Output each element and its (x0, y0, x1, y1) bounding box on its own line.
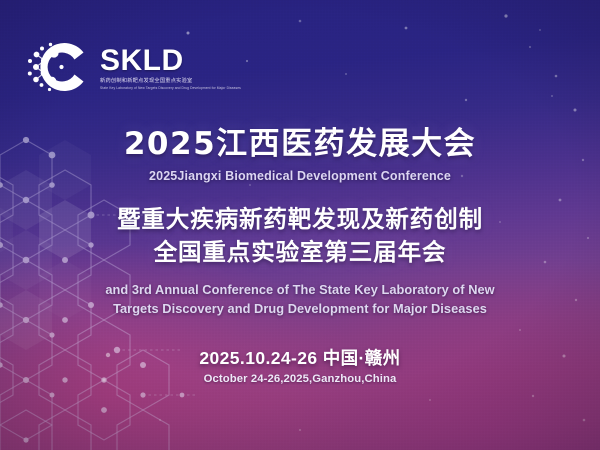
conference-poster: SKLD 新药创制和新靶点发现全国重点实验室 State Key Laborat… (0, 0, 600, 450)
skld-molecular-c-icon (27, 36, 91, 98)
page-title: 2025江西医药发展大会 (124, 126, 476, 163)
date-location-chinese: 2025.10.24-26 中国·赣州 (199, 348, 400, 369)
logo-subtext-chinese: 新药创制和新靶点发现全国重点实验室 (100, 78, 241, 84)
logo-skld-text: SKLD (100, 46, 241, 76)
subtitle-cn-line-2: 全国重点实验室第三届年会 (117, 236, 483, 269)
subtitle-cn-line-1: 暨重大疾病新药靶发现及新药创制 (117, 203, 483, 236)
poster-content: 2025江西医药发展大会 2025Jiangxi Biomedical Deve… (0, 126, 600, 387)
subtitle-en-line-2: Targets Discovery and Drug Development f… (105, 300, 494, 319)
date-location-english: October 24-26,2025,Ganzhou,China (199, 373, 400, 387)
logo-wordmark-group: SKLD 新药创制和新靶点发现全国重点实验室 State Key Laborat… (100, 44, 241, 91)
subtitle-chinese-block: 暨重大疾病新药靶发现及新药创制 全国重点实验室第三届年会 (117, 203, 483, 270)
date-location-block: 2025.10.24-26 中国·赣州 October 24-26,2025,G… (199, 348, 400, 387)
skld-logo: SKLD 新药创制和新靶点发现全国重点实验室 State Key Laborat… (27, 36, 241, 98)
subtitle-en-line-1: and 3rd Annual Conference of The State K… (105, 281, 494, 300)
page-title-english: 2025Jiangxi Biomedical Development Confe… (149, 169, 451, 184)
subtitle-english-block: and 3rd Annual Conference of The State K… (105, 281, 494, 318)
logo-subtext-english: State Key Laboratory of New Targets Disc… (100, 86, 241, 90)
